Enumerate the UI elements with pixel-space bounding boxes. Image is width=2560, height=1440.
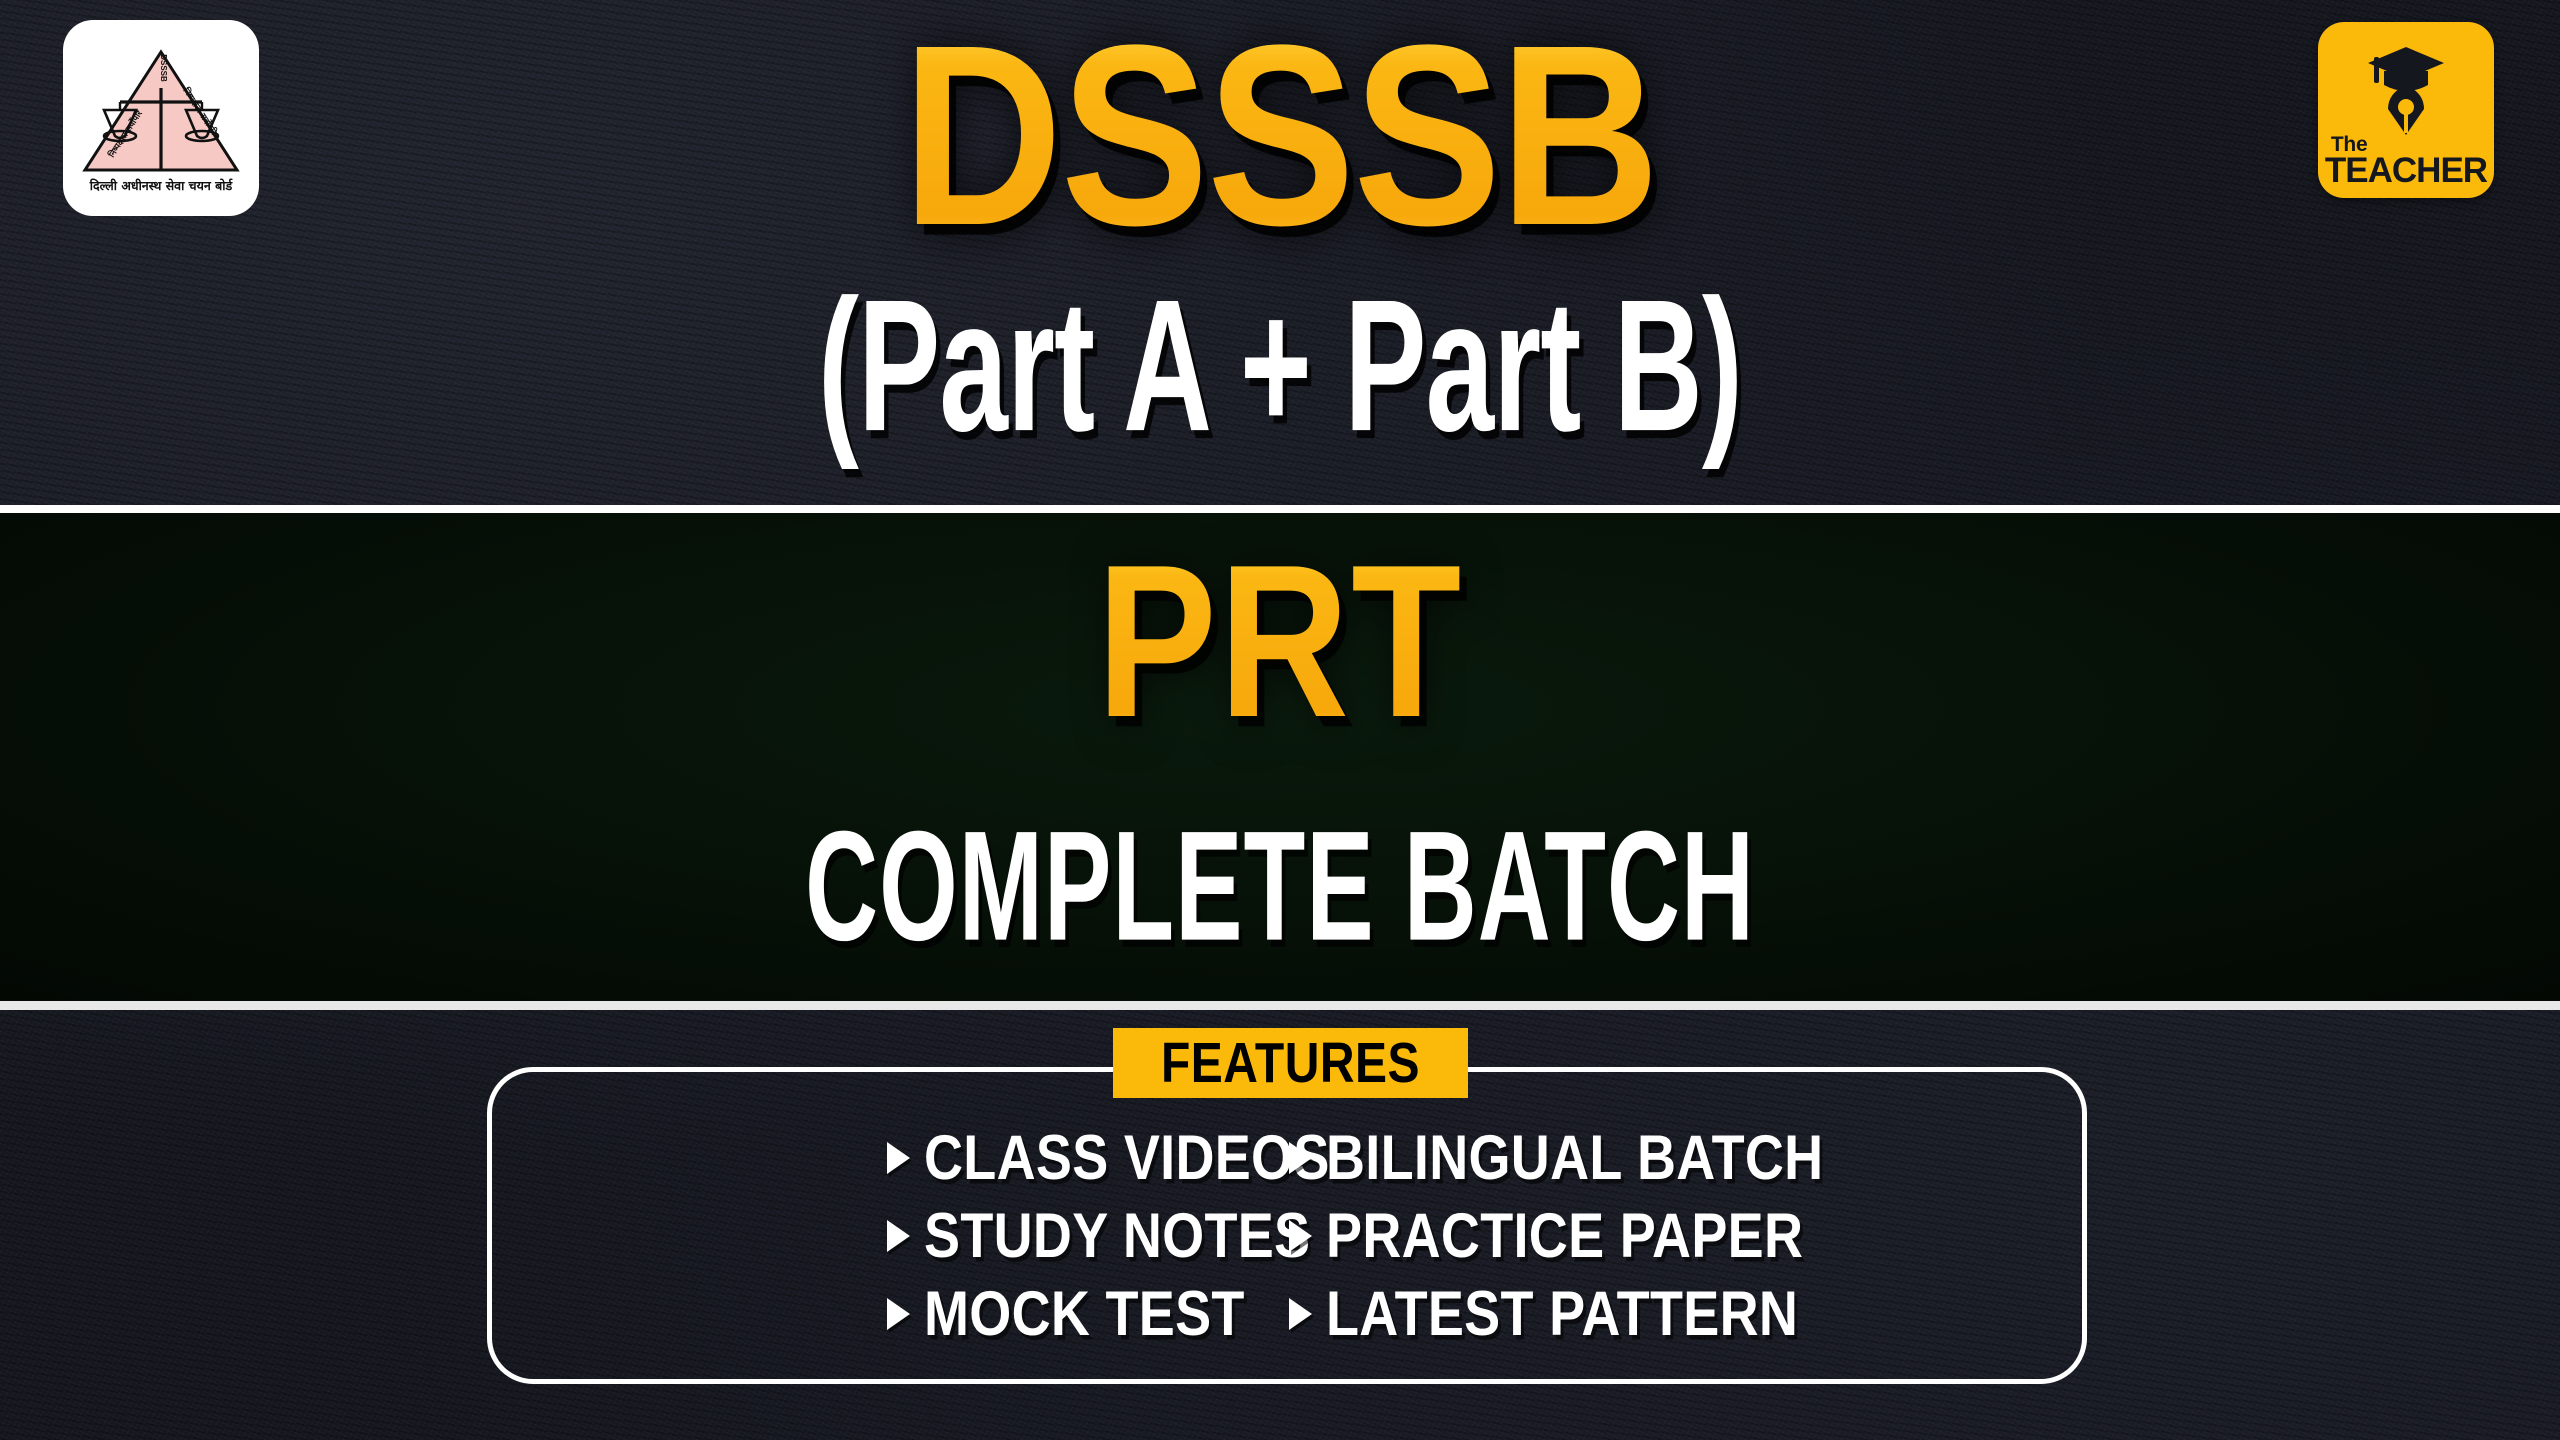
header-section: DSSSB निष्पक्षता सर्वोपरि निष्पक्षता सर्… bbox=[0, 0, 2560, 505]
features-section: FEATURES CLASS VIDEOS STUDY NOTES MOCK T… bbox=[0, 1010, 2560, 1440]
feature-label: STUDY NOTES bbox=[924, 1200, 1310, 1272]
feature-item: LATEST PATTERN bbox=[1289, 1286, 1798, 1342]
features-badge: FEATURES bbox=[1113, 1028, 1468, 1098]
triangle-bullet-icon bbox=[887, 1220, 910, 1252]
features-badge-label: FEATURES bbox=[1161, 1031, 1420, 1096]
divider-top bbox=[0, 505, 2560, 513]
feature-label: PRACTICE PAPER bbox=[1326, 1200, 1803, 1272]
feature-label: LATEST PATTERN bbox=[1326, 1278, 1798, 1350]
page-subtitle: (Part A + Part B) bbox=[154, 272, 2407, 460]
features-column-left: CLASS VIDEOS STUDY NOTES MOCK TEST bbox=[727, 1130, 1227, 1380]
divider-bottom bbox=[0, 1001, 2560, 1010]
triangle-bullet-icon bbox=[1289, 1220, 1312, 1252]
batch-line: COMPLETE BATCH bbox=[102, 809, 2457, 965]
triangle-bullet-icon bbox=[1289, 1142, 1312, 1174]
feature-label: MOCK TEST bbox=[924, 1278, 1245, 1350]
features-columns: CLASS VIDEOS STUDY NOTES MOCK TEST BILIN… bbox=[487, 1130, 2087, 1380]
triangle-bullet-icon bbox=[887, 1298, 910, 1330]
feature-item: CLASS VIDEOS bbox=[887, 1130, 1330, 1186]
page-title: DSSSB bbox=[0, 8, 2560, 265]
promo-banner: DSSSB निष्पक्षता सर्वोपरि निष्पक्षता सर्… bbox=[0, 0, 2560, 1440]
feature-label: CLASS VIDEOS bbox=[924, 1122, 1330, 1194]
feature-item: PRACTICE PAPER bbox=[1289, 1208, 1803, 1264]
exam-code: PRT bbox=[0, 533, 2560, 751]
triangle-bullet-icon bbox=[1289, 1298, 1312, 1330]
feature-item: STUDY NOTES bbox=[887, 1208, 1310, 1264]
triangle-bullet-icon bbox=[887, 1142, 910, 1174]
feature-item: BILINGUAL BATCH bbox=[1289, 1130, 1823, 1186]
feature-label: BILINGUAL BATCH bbox=[1326, 1122, 1823, 1194]
exam-band: PRT COMPLETE BATCH bbox=[0, 513, 2560, 1001]
feature-item: MOCK TEST bbox=[887, 1286, 1245, 1342]
